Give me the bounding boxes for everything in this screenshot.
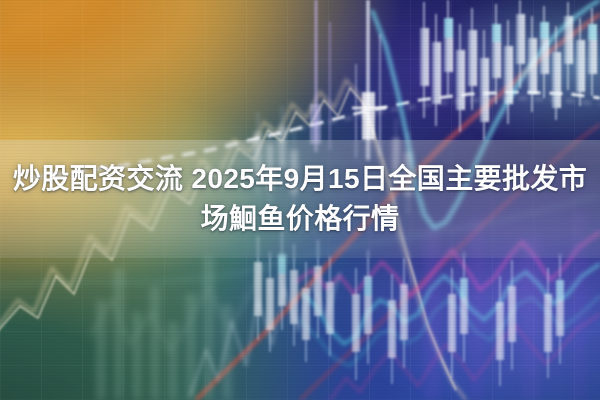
banner-image: 炒股配资交流 2025年9月15日全国主要批发市 场鮰鱼价格行情 xyxy=(0,0,600,400)
vignette-overlay xyxy=(0,0,600,400)
